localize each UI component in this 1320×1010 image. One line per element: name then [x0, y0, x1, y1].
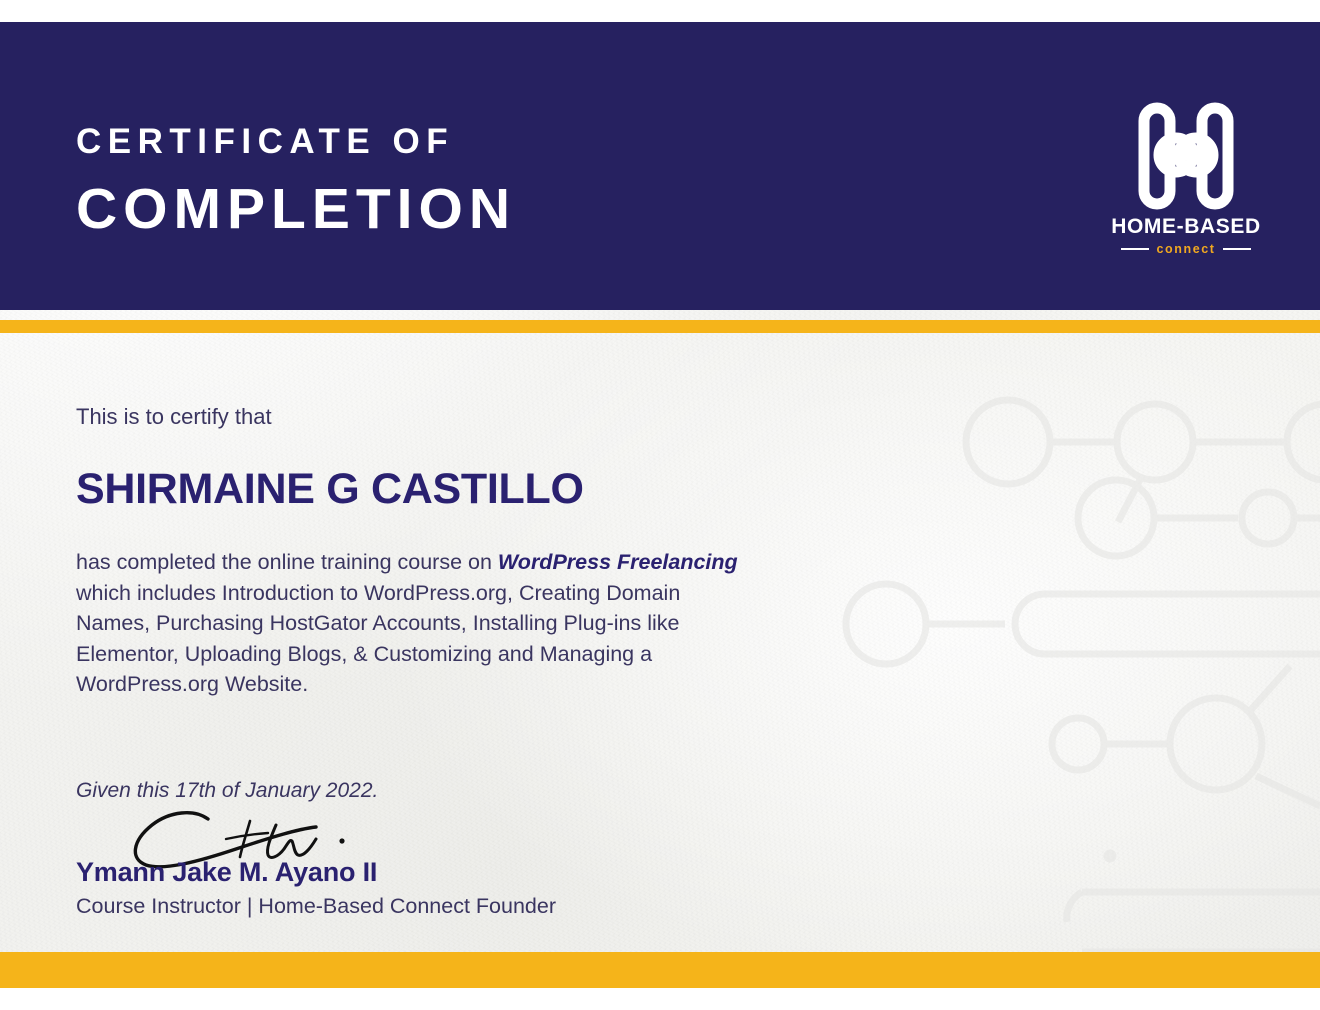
signer-name: Ymann Jake M. Ayano II	[76, 859, 696, 886]
brand-logo: HOME-BASED connect	[1100, 100, 1272, 256]
gold-divider-top	[0, 320, 1320, 333]
signer-role: Course Instructor | Home-Based Connect F…	[76, 895, 696, 919]
logo-subtitle: connect	[1156, 243, 1215, 256]
course-title: WordPress Freelancing	[498, 550, 738, 574]
description-suffix: which includes Introduction to WordPress…	[76, 581, 680, 697]
logo-subtitle-row: connect	[1100, 243, 1272, 256]
logo-rule-left	[1121, 248, 1149, 250]
signature-block: Given this 17th of January 2022. Ymann J…	[76, 778, 696, 919]
course-description: has completed the online training course…	[76, 547, 748, 700]
header-band: CERTIFICATE OF COMPLETION HOME-BASE	[0, 22, 1320, 310]
certify-statement: This is to certify that	[76, 404, 776, 430]
certificate-body: This is to certify that SHIRMAINE G CAST…	[76, 404, 776, 700]
description-prefix: has completed the online training course…	[76, 550, 498, 574]
gold-band-bottom	[0, 952, 1320, 988]
logo-brand-name: HOME-BASED	[1100, 216, 1272, 237]
chain-h-icon	[1134, 100, 1238, 212]
title-line-certificate-of: CERTIFICATE OF	[76, 124, 516, 159]
certificate-title: CERTIFICATE OF COMPLETION	[76, 124, 516, 238]
certificate-document: CERTIFICATE OF COMPLETION HOME-BASE	[0, 0, 1320, 1010]
title-line-completion: COMPLETION	[76, 181, 516, 238]
recipient-name: SHIRMAINE G CASTILLO	[76, 468, 776, 511]
logo-rule-right	[1223, 248, 1251, 250]
issue-date: Given this 17th of January 2022.	[76, 778, 696, 803]
